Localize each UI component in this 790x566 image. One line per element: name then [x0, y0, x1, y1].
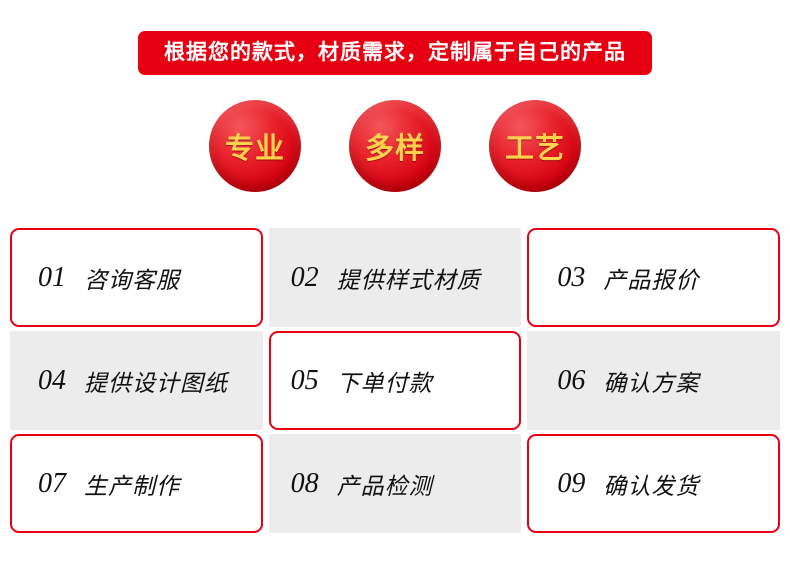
step-number: 07	[38, 468, 66, 500]
feature-circle-label: 工艺	[505, 125, 565, 167]
step-number: 08	[291, 468, 319, 500]
step-label: 提供设计图纸	[84, 364, 228, 398]
step-number: 06	[557, 365, 585, 397]
step-label: 产品检测	[337, 467, 433, 501]
step-label: 下单付款	[337, 364, 433, 398]
step-label: 产品报价	[603, 261, 699, 295]
feature-circle-label: 专业	[225, 125, 285, 167]
banner-title: 根据您的款式，材质需求，定制属于自己的产品	[138, 31, 652, 75]
feature-circles: 专业 多样 工艺	[0, 100, 790, 192]
feature-circle-2: 多样	[349, 100, 441, 192]
step-cell-08: 08 产品检测	[269, 434, 522, 533]
step-cell-03: 03 产品报价	[527, 228, 780, 327]
step-label: 提供样式材质	[337, 261, 481, 295]
step-cell-05: 05 下单付款	[269, 331, 522, 430]
feature-circle-label: 多样	[365, 125, 425, 167]
process-steps-grid: 01 咨询客服 02 提供样式材质 03 产品报价 04 提供设计图纸 05 下…	[10, 228, 780, 533]
step-number: 09	[557, 468, 585, 500]
step-label: 生产制作	[84, 467, 180, 501]
banner-container: 根据您的款式，材质需求，定制属于自己的产品	[0, 31, 790, 75]
step-cell-01: 01 咨询客服	[10, 228, 263, 327]
feature-circle-1: 专业	[209, 100, 301, 192]
step-label: 确认方案	[603, 364, 699, 398]
step-number: 02	[291, 262, 319, 294]
step-cell-06: 06 确认方案	[527, 331, 780, 430]
step-number: 01	[38, 262, 66, 294]
step-number: 04	[38, 365, 66, 397]
step-number: 03	[557, 262, 585, 294]
feature-circle-3: 工艺	[489, 100, 581, 192]
step-label: 确认发货	[603, 467, 699, 501]
step-label: 咨询客服	[84, 261, 180, 295]
step-cell-09: 09 确认发货	[527, 434, 780, 533]
step-cell-02: 02 提供样式材质	[269, 228, 522, 327]
step-cell-04: 04 提供设计图纸	[10, 331, 263, 430]
infographic-page: 根据您的款式，材质需求，定制属于自己的产品 专业 多样 工艺 01 咨询客服 0…	[0, 0, 790, 566]
step-number: 05	[291, 365, 319, 397]
step-cell-07: 07 生产制作	[10, 434, 263, 533]
